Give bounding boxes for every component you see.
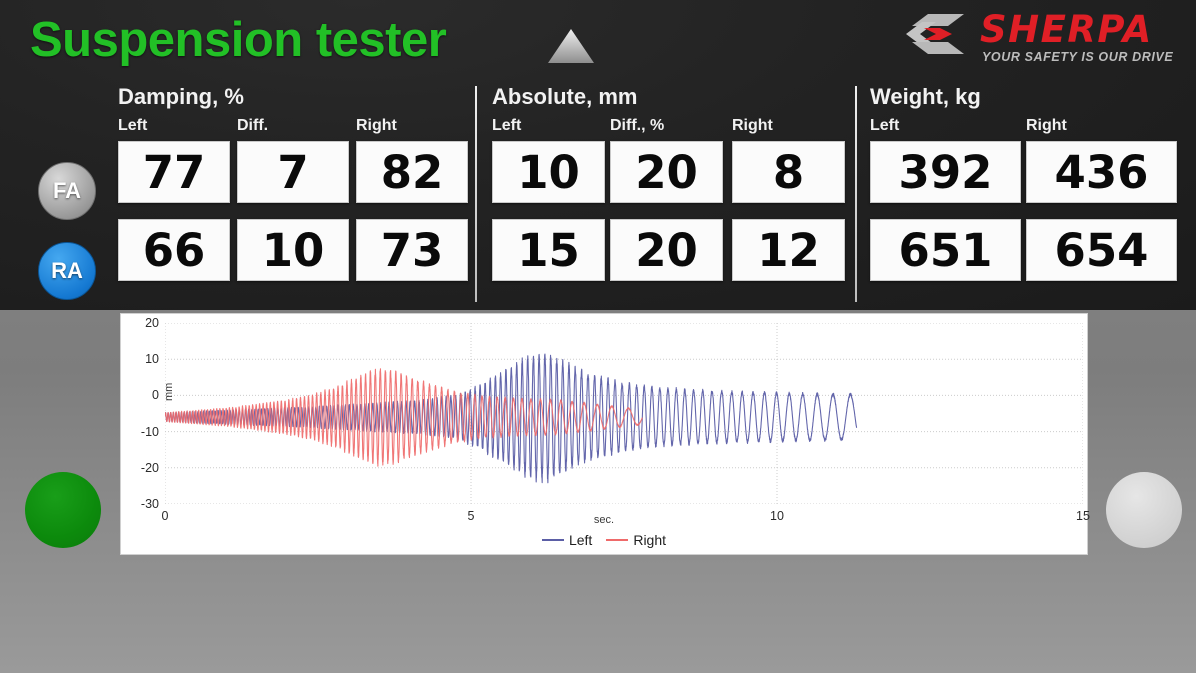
page-title: Suspension tester (30, 12, 446, 68)
cell-ra-weight-left: 651 (870, 219, 1021, 281)
stop-button[interactable] (1106, 472, 1182, 548)
group-weight-columns: Left Right (870, 117, 1186, 139)
cell-fa-absolute-diff: 20 (610, 141, 723, 203)
table-row-fa-absolute: 10 20 8 (492, 141, 848, 211)
triangle-up-icon[interactable] (546, 27, 596, 65)
axle-badge-ra[interactable]: RA (38, 242, 96, 300)
y-tick--10: -10 (125, 425, 165, 439)
section-divider-1 (475, 86, 477, 302)
legend-swatch-right (606, 539, 628, 541)
column-header-diff: Diff., % (610, 117, 664, 135)
table-row-ra-absolute: 15 20 12 (492, 219, 848, 289)
group-absolute-columns: Left Diff., % Right (492, 117, 848, 139)
table-row-fa-weight: 392 436 (870, 141, 1186, 211)
suspension-tester-app: Suspension tester SHERPA YOUR SAFETY IS … (0, 0, 1196, 673)
cell-fa-damping-left: 77 (118, 141, 230, 203)
cell-fa-weight-left: 392 (870, 141, 1021, 203)
axle-badge-fa-label: FA (53, 178, 81, 204)
cell-fa-weight-right: 436 (1026, 141, 1177, 203)
cell-ra-absolute-left: 15 (492, 219, 605, 281)
table-row-ra-weight: 651 654 (870, 219, 1186, 289)
sherpa-mark-icon (902, 12, 974, 56)
chart-legend: Left Right (121, 532, 1087, 548)
y-tick--20: -20 (125, 461, 165, 475)
cell-ra-damping-left: 66 (118, 219, 230, 281)
group-damping-columns: Left Diff. Right (118, 117, 470, 139)
cell-fa-damping-right: 82 (356, 141, 468, 203)
y-tick-0: 0 (125, 388, 165, 402)
chart-x-axis-label: sec. (121, 514, 1087, 526)
cell-ra-weight-right: 654 (1026, 219, 1177, 281)
y-tick-20: 20 (125, 316, 165, 330)
table-row-fa-damping: 77 7 82 (118, 141, 470, 211)
legend-item-right: Right (606, 532, 666, 548)
legend-label-right: Right (633, 532, 666, 548)
cell-fa-damping-diff: 7 (237, 141, 349, 203)
chart-traces (165, 323, 1083, 504)
sherpa-tagline: YOUR SAFETY IS OUR DRIVE (982, 50, 1173, 64)
cell-fa-absolute-left: 10 (492, 141, 605, 203)
cell-fa-absolute-right: 8 (732, 141, 845, 203)
column-header-left: Left (118, 117, 147, 135)
y-tick--30: -30 (125, 497, 165, 511)
column-header-right: Right (1026, 117, 1067, 135)
start-button[interactable] (25, 472, 101, 548)
group-weight: Weight, kg Left Right 392 436 651 654 (870, 86, 1186, 289)
cell-ra-absolute-diff: 20 (610, 219, 723, 281)
axle-badge-fa[interactable]: FA (38, 162, 96, 220)
group-damping-title: Damping, % (118, 86, 470, 108)
column-header-left: Left (492, 117, 521, 135)
section-divider-2 (855, 86, 857, 302)
cell-ra-absolute-right: 12 (732, 219, 845, 281)
oscillation-chart-panel: mm 20100-10-20-30 051015 sec. Left Right (120, 313, 1088, 555)
y-tick-10: 10 (125, 352, 165, 366)
table-row-ra-damping: 66 10 73 (118, 219, 470, 289)
legend-item-left: Left (542, 532, 592, 548)
legend-label-left: Left (569, 532, 592, 548)
legend-swatch-left (542, 539, 564, 541)
axle-badge-ra-label: RA (51, 258, 83, 284)
group-damping: Damping, % Left Diff. Right 77 7 82 66 1… (118, 86, 470, 289)
chart-plot-area: mm 20100-10-20-30 051015 (165, 323, 1083, 504)
group-absolute: Absolute, mm Left Diff., % Right 10 20 8… (492, 86, 848, 289)
column-header-right: Right (732, 117, 773, 135)
group-absolute-title: Absolute, mm (492, 86, 848, 108)
column-header-right: Right (356, 117, 397, 135)
sherpa-logo: SHERPA YOUR SAFETY IS OUR DRIVE (902, 8, 1182, 66)
sherpa-wordmark: SHERPA (980, 8, 1153, 51)
cell-ra-damping-right: 73 (356, 219, 468, 281)
column-header-left: Left (870, 117, 899, 135)
cell-ra-damping-diff: 10 (237, 219, 349, 281)
column-header-diff: Diff. (237, 117, 268, 135)
group-weight-title: Weight, kg (870, 86, 1186, 108)
